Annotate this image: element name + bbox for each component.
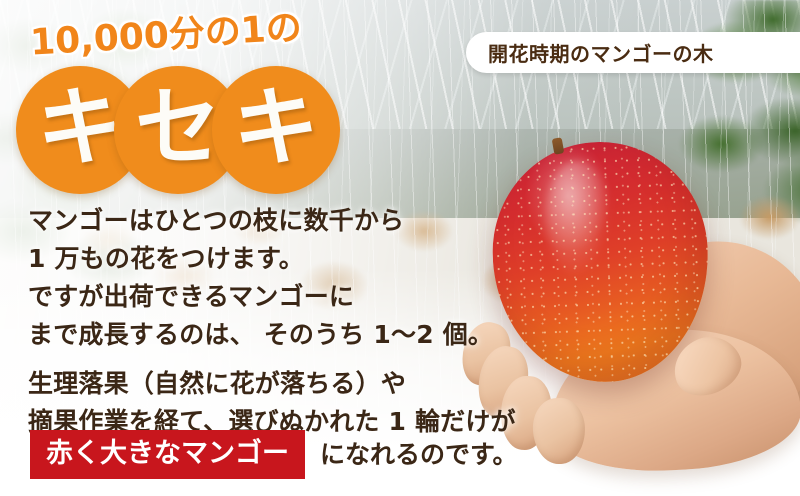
body-line: ですが出荷できるマンゴーに — [28, 278, 458, 316]
emphasis-line: 赤く大きなマンゴー になれるのです。 — [30, 430, 518, 479]
photo-caption-text: 開花時期のマンゴーの木 — [488, 38, 714, 67]
body-line: マンゴーはひとつの枝に数千から — [28, 202, 458, 240]
body-copy: マンゴーはひとつの枝に数千から 1 万もの花をつけます。 ですが出荷できるマンゴ… — [28, 202, 458, 441]
mango-highlight — [543, 160, 613, 280]
emphasis-red-box: 赤く大きなマンゴー — [30, 430, 305, 479]
body-line: 生理落果（自然に花が落ちる）や — [28, 365, 458, 403]
headline-circle-char-1: キ — [37, 85, 123, 171]
poster-canvas: 開花時期のマンゴーの木 10,000分の1の キ セ キ マンゴーはひとつの枝に… — [0, 0, 800, 496]
headline-circle-char-2: セ — [135, 85, 221, 171]
body-line: まで成長するのは、 そのうち 1〜2 個。 — [28, 316, 458, 354]
headline-kicker: 10,000分の1の — [29, 10, 303, 61]
body-line: 1 万もの花をつけます。 — [28, 240, 458, 278]
body-block-1: マンゴーはひとつの枝に数千から 1 万もの花をつけます。 ですが出荷できるマンゴ… — [28, 202, 458, 354]
photo-caption-pill: 開花時期のマンゴーの木 — [466, 32, 800, 73]
headline-circle-char-3: キ — [233, 85, 319, 171]
headline-circles: キ セ キ — [16, 66, 346, 194]
emphasis-trailing-text: になれるのです。 — [320, 442, 518, 467]
headline-circle-3: キ — [212, 66, 340, 194]
headline-group: 10,000分の1の キ セ キ — [0, 0, 420, 200]
